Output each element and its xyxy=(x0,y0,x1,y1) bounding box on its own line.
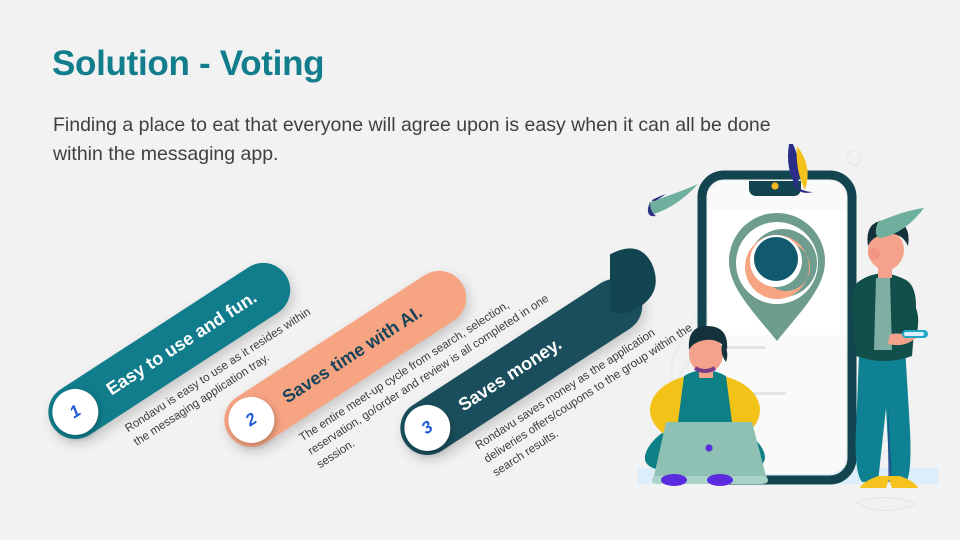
leaf-green-blue-icon xyxy=(648,184,698,216)
decor-blob xyxy=(610,248,656,313)
phone-camera-dot xyxy=(771,182,778,189)
people-with-phone-illustration xyxy=(610,130,960,540)
illustration-svg xyxy=(610,130,960,540)
standing-person-with-phone xyxy=(852,220,928,488)
page-title: Solution - Voting xyxy=(52,44,324,84)
slide-canvas: Solution - Voting Finding a place to eat… xyxy=(0,0,960,540)
